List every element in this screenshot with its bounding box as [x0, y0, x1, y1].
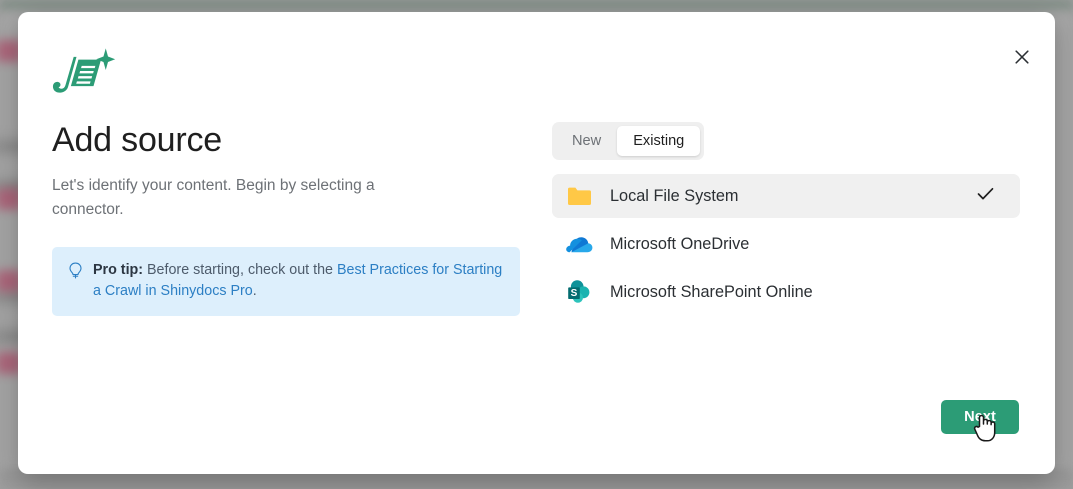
- next-button[interactable]: Next: [941, 400, 1019, 434]
- connector-label: Microsoft SharePoint Online: [610, 283, 994, 302]
- check-icon: [977, 187, 994, 206]
- source-mode-segmented-control: New Existing: [552, 122, 704, 160]
- onedrive-icon: [562, 231, 596, 257]
- pro-tip-label: Pro tip:: [93, 262, 143, 278]
- tab-new[interactable]: New: [556, 126, 617, 156]
- sharepoint-icon: S: [562, 279, 596, 305]
- connector-row-microsoft-sharepoint-online[interactable]: S Microsoft SharePoint Online: [552, 270, 1020, 314]
- pro-tip-text: Pro tip: Before starting, check out the …: [93, 260, 504, 302]
- screen: Add source Let's identify your content. …: [0, 0, 1073, 489]
- lightbulb-icon: [68, 262, 83, 284]
- connector-list: Local File System: [552, 174, 1020, 314]
- pro-tip-period: .: [253, 283, 257, 299]
- add-source-dialog: Add source Let's identify your content. …: [18, 12, 1055, 474]
- connector-label: Local File System: [610, 187, 977, 206]
- connector-label: Microsoft OneDrive: [610, 235, 994, 254]
- close-icon[interactable]: [1007, 42, 1037, 72]
- pro-tip-body: Before starting, check out the: [143, 262, 337, 278]
- shinydocs-logo: [52, 48, 118, 94]
- backdrop-topbar: [0, 0, 1073, 12]
- folder-icon: [562, 183, 596, 209]
- page-subtitle: Let's identify your content. Begin by se…: [52, 174, 424, 222]
- dialog-left-column: Add source Let's identify your content. …: [52, 48, 522, 316]
- page-title: Add source: [52, 120, 522, 160]
- pro-tip-callout: Pro tip: Before starting, check out the …: [52, 247, 520, 316]
- tab-existing[interactable]: Existing: [617, 126, 700, 156]
- connector-row-local-file-system[interactable]: Local File System: [552, 174, 1020, 218]
- svg-text:S: S: [571, 288, 578, 299]
- dialog-right-column: New Existing Local File System: [552, 122, 1022, 318]
- connector-row-microsoft-onedrive[interactable]: Microsoft OneDrive: [552, 222, 1020, 266]
